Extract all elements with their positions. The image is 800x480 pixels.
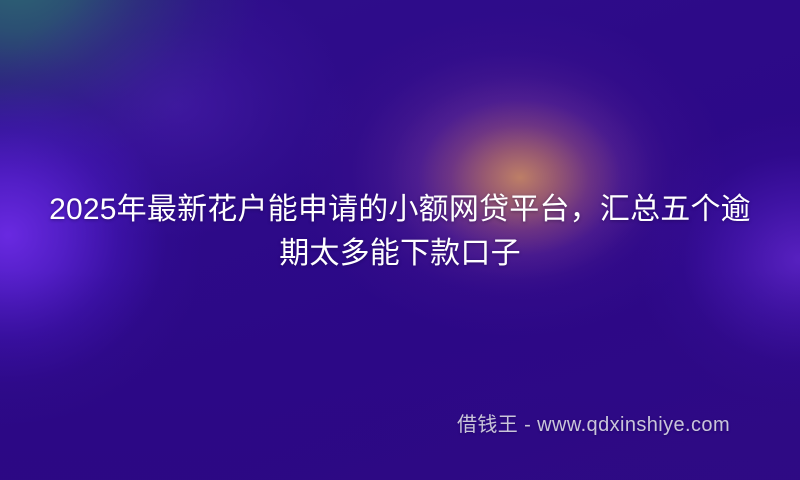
banner-content: 2025年最新花户能申请的小额网贷平台，汇总五个逾期太多能下款口子 借钱王 - … bbox=[0, 0, 800, 480]
article-cover-banner: 2025年最新花户能申请的小额网贷平台，汇总五个逾期太多能下款口子 借钱王 - … bbox=[0, 0, 800, 480]
headline-title: 2025年最新花户能申请的小额网贷平台，汇总五个逾期太多能下款口子 bbox=[40, 188, 760, 276]
site-watermark: 借钱王 - www.qdxinshiye.com bbox=[457, 408, 730, 437]
